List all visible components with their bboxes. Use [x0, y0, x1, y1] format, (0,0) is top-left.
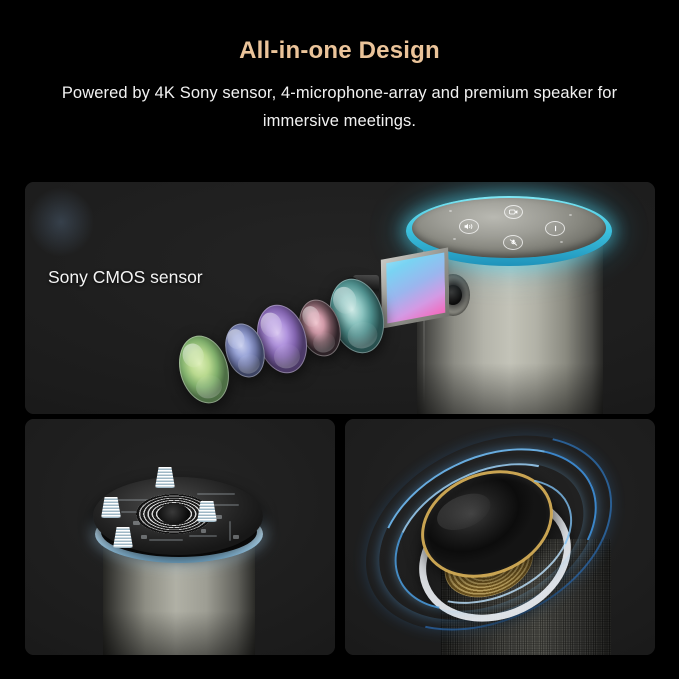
- volume-icon: [459, 219, 479, 234]
- page-subtitle: Powered by 4K Sony sensor, 4-microphone-…: [60, 65, 620, 135]
- header: All-in-one Design Powered by 4K Sony sen…: [0, 0, 679, 135]
- subtitle-line-1: Powered by 4K Sony sensor, 4-microphone-…: [62, 84, 529, 102]
- promo-page: All-in-one Design Powered by 4K Sony sen…: [0, 0, 679, 679]
- mic-illustration: [25, 419, 335, 655]
- panel-noise-cancelling-mics: 4 noise cancelling mics: [25, 419, 335, 655]
- microphone-mute-icon: [503, 235, 523, 250]
- page-title: All-in-one Design: [0, 0, 679, 65]
- video-camera-icon: [504, 205, 523, 219]
- sensor-glow: [25, 182, 107, 270]
- sony-sensor-illustration: [25, 182, 655, 414]
- cmos-sensor: [376, 247, 449, 328]
- power-bar-icon: [545, 221, 565, 236]
- sensor-surface: [382, 252, 445, 323]
- speaker-illustration: [345, 419, 655, 655]
- mic-capsule: [155, 467, 175, 488]
- panel-sony-sensor: [25, 182, 655, 414]
- panel-label-sony-sensor: Sony CMOS sensor: [48, 267, 203, 288]
- panel-hifi-speaker: Premium Hi-Fi speaker: [345, 419, 655, 655]
